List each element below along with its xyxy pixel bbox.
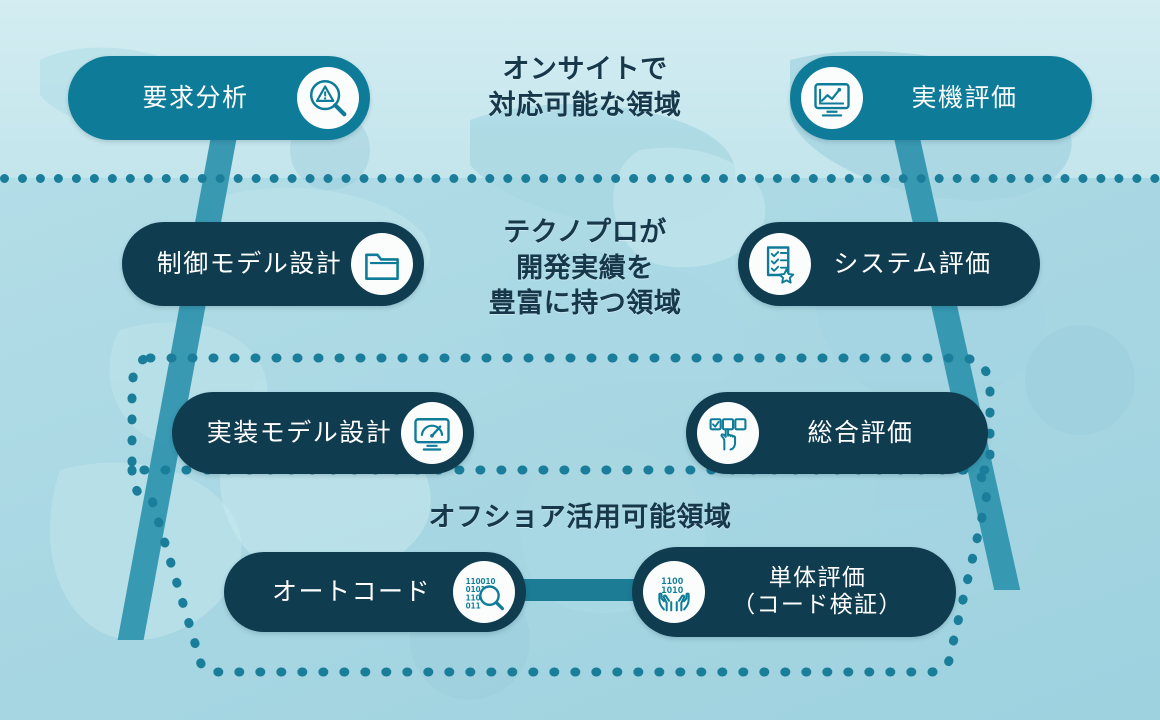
- node-control-model-label: 制御モデル設計: [148, 249, 351, 279]
- node-impl-model[interactable]: 実装モデル設計: [172, 392, 474, 474]
- node-overall-eval-label: 総合評価: [759, 418, 962, 448]
- caption-offshore: オフショア活用可能領域: [380, 500, 780, 536]
- binary-magnifier-icon: 11OO1O O1O1 11OO O11: [453, 561, 515, 623]
- monitor-chart-icon: [801, 67, 863, 129]
- node-overall-eval[interactable]: 総合評価: [686, 392, 988, 474]
- node-auto-code-label: オートコード: [250, 577, 453, 607]
- node-impl-model-label: 実装モデル設計: [198, 418, 401, 448]
- node-machine-eval-label: 実機評価: [863, 83, 1066, 113]
- caption-technopro: テクノプロが 開発実績を 豊富に持つ領域: [440, 215, 730, 322]
- magnifier-warning-icon: [297, 67, 359, 129]
- svg-text:1O1O: 1O1O: [661, 585, 684, 596]
- monitor-gauge-icon: [401, 402, 463, 464]
- node-machine-eval[interactable]: 実機評価: [790, 56, 1092, 140]
- folder-icon: [351, 233, 413, 295]
- node-requirements-label: 要求分析: [94, 83, 297, 113]
- node-system-eval-label: システム評価: [811, 249, 1014, 279]
- onsite-boundary-dotted-line: [0, 174, 1160, 183]
- caption-onsite: オンサイトで 対応可能な領域: [440, 52, 730, 123]
- checklist-star-icon: [749, 233, 811, 295]
- diagram-canvas: オンサイトで 対応可能な領域 テクノプロが 開発実績を 豊富に持つ領域 オフショ…: [0, 0, 1160, 720]
- node-unit-eval[interactable]: 11OO 1O1O 単体評価 （コード検証）: [632, 547, 956, 637]
- node-unit-eval-label: 単体評価 （コード検証）: [705, 565, 930, 619]
- svg-text:O11: O11: [466, 601, 481, 611]
- checkbox-hand-icon: [697, 402, 759, 464]
- node-auto-code[interactable]: オートコード 11OO1O O1O1 11OO O11: [224, 552, 526, 632]
- node-control-model[interactable]: 制御モデル設計: [122, 222, 424, 306]
- node-system-eval[interactable]: システム評価: [738, 222, 1040, 306]
- hands-binary-icon: 11OO 1O1O: [643, 561, 705, 623]
- node-requirements[interactable]: 要求分析: [68, 56, 370, 140]
